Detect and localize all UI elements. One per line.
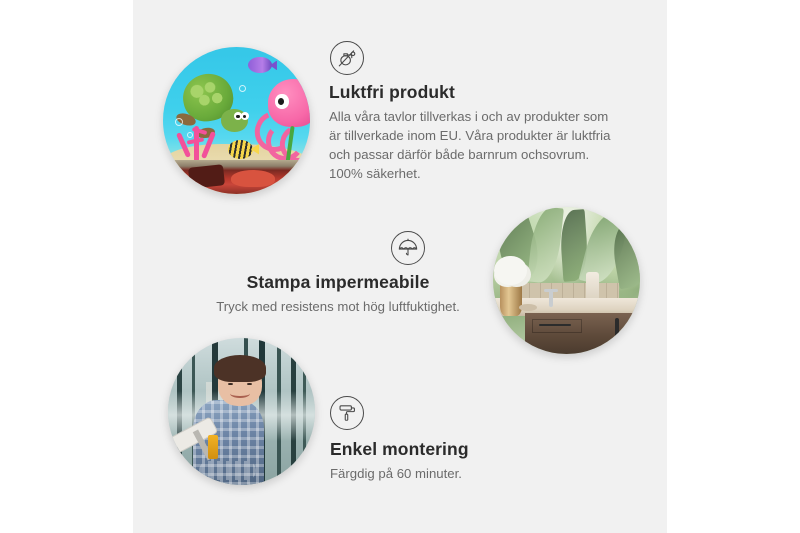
cabinet-handle (615, 318, 620, 339)
icon-row (205, 231, 471, 265)
feature-title: Enkel montering (330, 439, 610, 460)
bathroom-wallpaper-photo (493, 207, 640, 354)
feature-title: Luktfri produkt (329, 82, 629, 103)
foreground-strip (163, 160, 310, 194)
smile (230, 389, 249, 398)
underwater-scene (163, 47, 310, 194)
feature-easy-assembly: Enkel montering Färgdig på 60 minuter. (330, 396, 610, 483)
paint-roller-icon (330, 396, 364, 430)
turtle-head (221, 109, 248, 132)
feature-title: Stampa impermeabile (205, 272, 471, 293)
bubble (187, 132, 193, 138)
hair (214, 355, 267, 381)
striped-fish (228, 140, 253, 159)
feature-description: Alla våra tavlor tillverkas i och av pro… (329, 107, 619, 184)
octopus (254, 79, 310, 155)
painter-forest-photo (168, 338, 315, 485)
octopus-head (268, 79, 310, 126)
octopus-eye (275, 94, 288, 108)
bathroom-scene (493, 207, 640, 354)
eye (247, 383, 252, 386)
hand-tool (208, 435, 218, 459)
feature-waterproof: Stampa impermeabile Tryck med resistens … (205, 231, 471, 316)
promo-infographic: Luktfri produkt Alla våra tavlor tillver… (0, 0, 800, 533)
vanity-cabinet (525, 313, 640, 354)
folded-arms (199, 461, 257, 480)
umbrella-icon (391, 231, 425, 265)
turtle-eye (241, 112, 249, 120)
feature-description: Färgdig på 60 minuter. (330, 464, 610, 483)
faucet (549, 289, 553, 307)
feature-odourless: Luktfri produkt Alla våra tavlor tillver… (329, 41, 629, 184)
painter-scene (168, 338, 315, 485)
no-fragrance-icon (330, 41, 364, 75)
woman-head (218, 362, 262, 406)
eye (228, 383, 233, 386)
underwater-cartoon-photo (163, 47, 310, 194)
flowers (494, 256, 526, 285)
feature-description: Tryck med resistens mot hög luftfuktighe… (205, 297, 471, 316)
bubble (175, 118, 183, 126)
